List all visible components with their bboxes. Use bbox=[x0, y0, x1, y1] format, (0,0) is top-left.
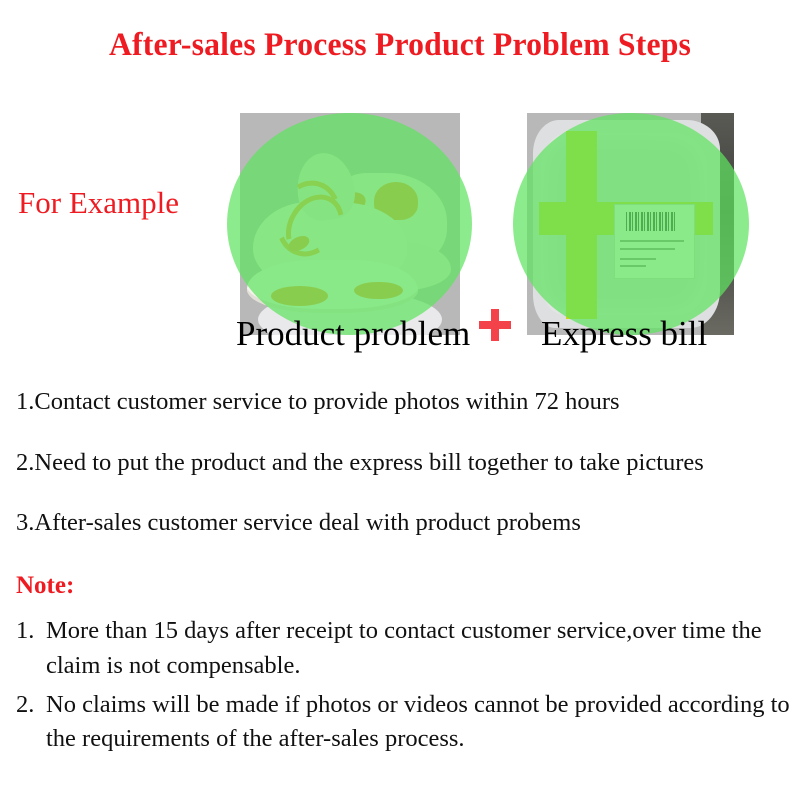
express-bill-photo bbox=[527, 113, 734, 335]
step-item-2: 2.Need to put the product and the expres… bbox=[16, 451, 786, 476]
note-item-1-number: 1. bbox=[16, 614, 46, 649]
product-problem-caption: Product problem bbox=[236, 316, 470, 351]
barcode-icon bbox=[626, 212, 675, 231]
page-title: After-sales Process Product Problem Step… bbox=[16, 27, 784, 64]
product-problem-photo bbox=[240, 113, 460, 335]
note-item-1-text: More than 15 days after receipt to conta… bbox=[46, 617, 762, 679]
sole-orange-stripe-left bbox=[271, 286, 328, 306]
note-list: 1.More than 15 days after receipt to con… bbox=[16, 614, 794, 761]
shipping-label-line bbox=[620, 265, 647, 267]
note-item-2-number: 2. bbox=[16, 688, 46, 723]
note-item-2-text: No claims will be made if photos or vide… bbox=[46, 691, 790, 753]
shipping-label-line bbox=[620, 258, 656, 260]
shipping-label bbox=[614, 204, 695, 279]
express-bill-caption: Express bill bbox=[541, 316, 707, 351]
express-bill-photo-inner bbox=[527, 113, 734, 335]
example-row: For Example Product problem bbox=[0, 105, 800, 340]
note-item-2: 2.No claims will be made if photos or vi… bbox=[16, 688, 794, 758]
shipping-label-line bbox=[620, 240, 684, 242]
product-problem-photo-inner bbox=[240, 113, 460, 335]
plus-icon bbox=[479, 309, 511, 341]
step-item-3: 3.After-sales customer service deal with… bbox=[16, 511, 786, 536]
steps-list: 1.Contact customer service to provide ph… bbox=[16, 390, 786, 572]
note-heading: Note: bbox=[16, 572, 74, 600]
shipping-label-line bbox=[620, 248, 675, 250]
step-item-1: 1.Contact customer service to provide ph… bbox=[16, 390, 786, 415]
for-example-label: For Example bbox=[18, 185, 179, 221]
note-item-1: 1.More than 15 days after receipt to con… bbox=[16, 614, 794, 684]
plus-icon-vertical-bar bbox=[491, 309, 499, 341]
